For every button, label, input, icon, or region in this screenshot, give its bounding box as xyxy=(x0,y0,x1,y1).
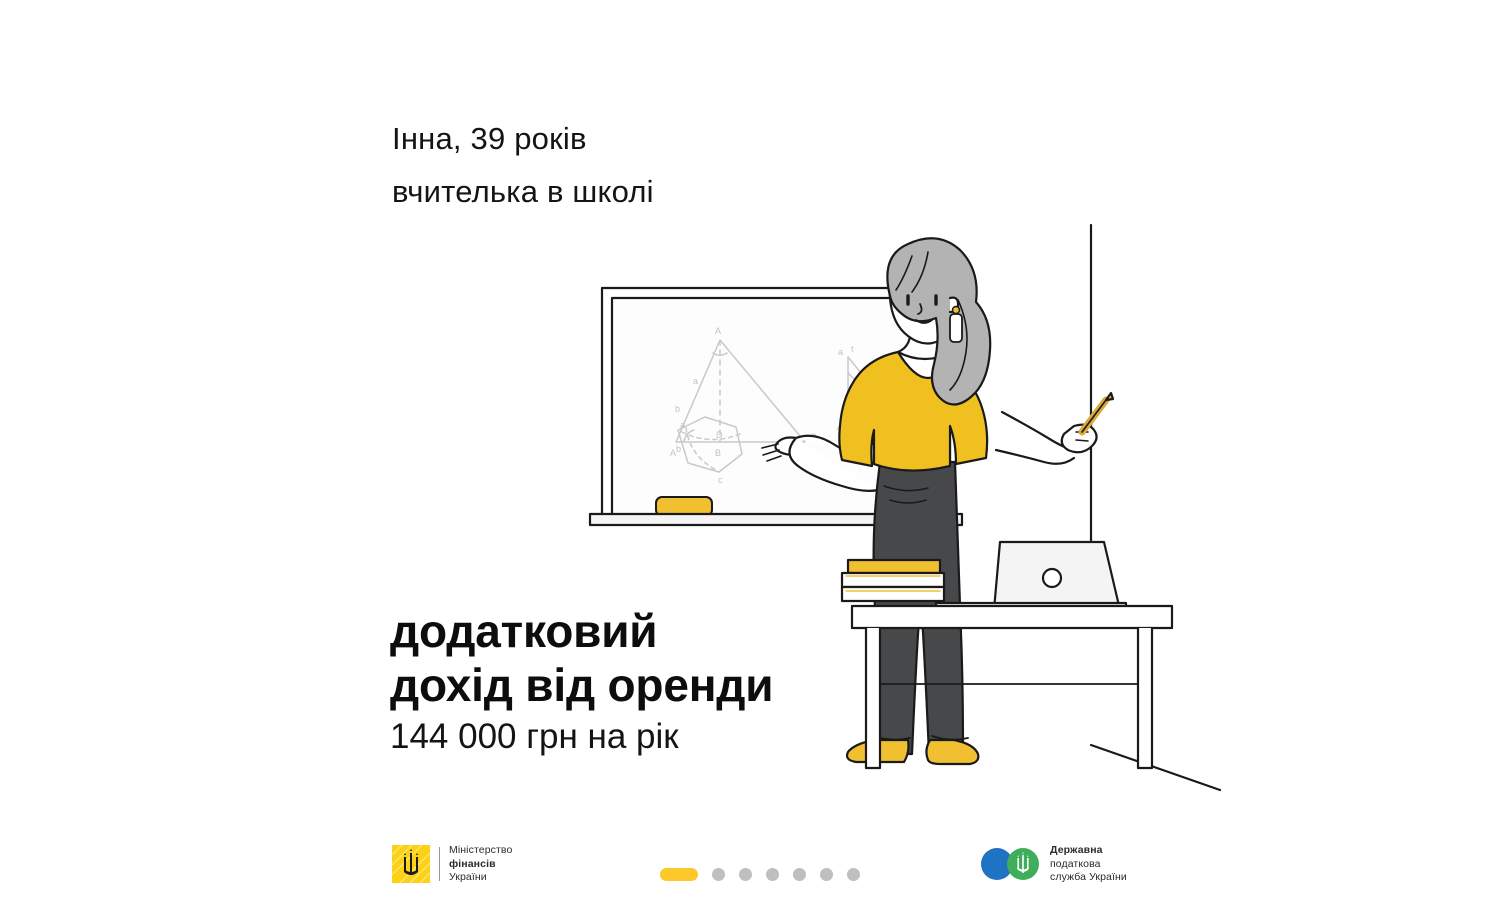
intro-line-name-age: Інна, 39 років xyxy=(392,112,1012,165)
earring-stud xyxy=(953,307,960,314)
logo-divider xyxy=(439,847,440,881)
slide-pagination[interactable] xyxy=(660,868,860,881)
label-foot-D: D xyxy=(716,430,723,440)
label-side-a: a xyxy=(693,376,698,386)
pagination-dot[interactable] xyxy=(820,868,833,881)
headline-main-line-2: дохід від оренди xyxy=(390,658,1030,712)
pencil-outline xyxy=(1082,400,1106,432)
laptop-logo xyxy=(1043,569,1061,587)
pencil-tip xyxy=(1106,393,1113,400)
ministry-line-3: України xyxy=(449,871,512,885)
book-middle xyxy=(842,573,944,587)
label-vertex-B: B xyxy=(715,448,721,458)
label-hex-b: b xyxy=(676,444,681,454)
pagination-dot[interactable] xyxy=(739,868,752,881)
tax-logo-text: Державна податкова служба України xyxy=(1050,844,1127,885)
slide-root: Інна, 39 років вчителька в школі xyxy=(0,0,1500,920)
pagination-dot[interactable] xyxy=(847,868,860,881)
floor-line xyxy=(1091,745,1220,790)
pagination-dot[interactable] xyxy=(766,868,779,881)
pagination-dot[interactable] xyxy=(712,868,725,881)
ministry-line-2: фінансів xyxy=(449,858,512,872)
logo-ministry-of-finance: Міністерство фінансів України xyxy=(392,844,512,885)
label-side-b: b xyxy=(675,404,680,414)
ministry-line-1: Міністерство xyxy=(449,844,512,858)
tax-line-3: служба України xyxy=(1050,871,1127,885)
label-hex-a: a xyxy=(680,420,685,430)
earring-drop xyxy=(950,314,962,342)
book-top xyxy=(848,560,940,573)
tax-service-circles-icon xyxy=(980,845,1040,883)
pagination-dot-active[interactable] xyxy=(660,868,698,881)
right-arm-bottom xyxy=(996,450,1074,464)
desk-leg-right xyxy=(1138,628,1152,768)
headline-main-line-1: додатковий xyxy=(390,604,1030,658)
tax-line-1: Державна xyxy=(1050,844,1127,858)
headline-block: додатковий дохід від оренди 144 000 грн … xyxy=(390,604,1030,758)
headline-amount: 144 000 грн на рік xyxy=(390,716,1030,758)
logo-state-tax-service: Державна податкова служба України xyxy=(980,844,1127,885)
pagination-dot[interactable] xyxy=(793,868,806,881)
book-bottom xyxy=(842,587,944,601)
ministry-logo-text: Міністерство фінансів України xyxy=(449,844,512,885)
tax-line-2: податкова xyxy=(1050,858,1127,872)
right-hand xyxy=(1062,425,1097,453)
label-apex-A: A xyxy=(715,326,721,336)
label-rt-a: a xyxy=(838,347,843,357)
ministry-trident-icon xyxy=(392,845,430,883)
label-hex-c: c xyxy=(718,475,723,485)
